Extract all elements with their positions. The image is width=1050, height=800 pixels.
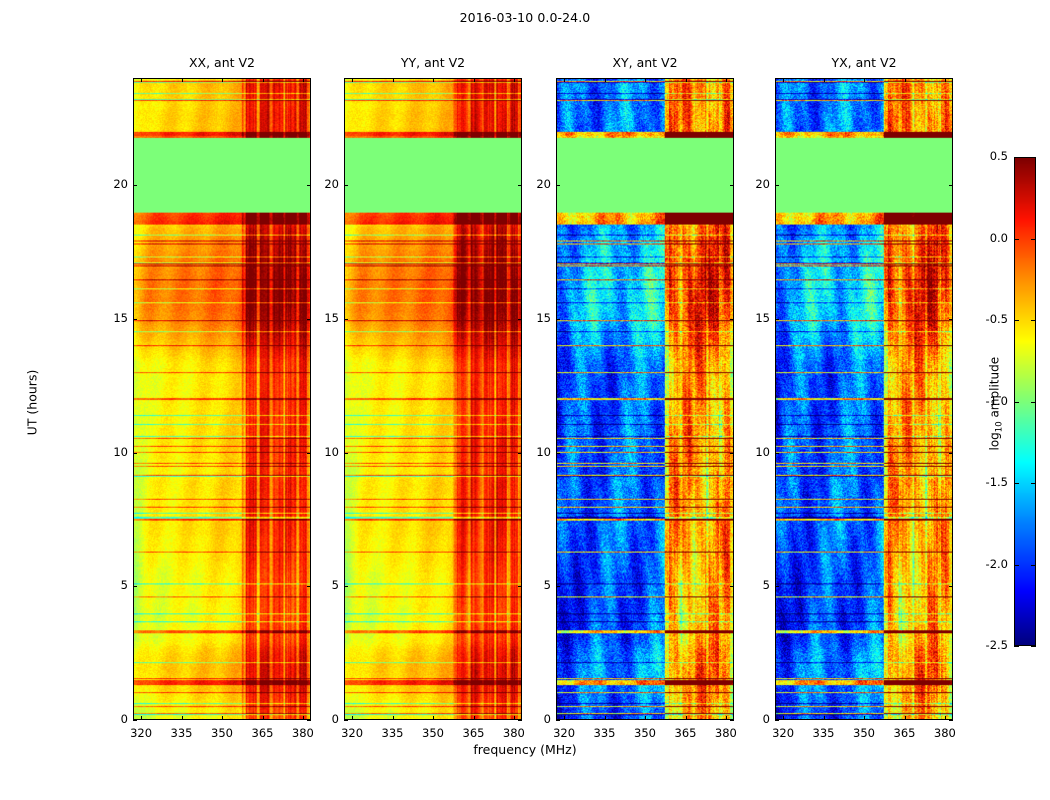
x-tickmark-top xyxy=(433,78,434,82)
y-tick-label-xx-4: 20 xyxy=(94,177,128,191)
y-tick-label-yy-2: 10 xyxy=(305,445,339,459)
colorbar-label-main: log xyxy=(987,432,1001,450)
x-tickmark xyxy=(141,716,142,720)
x-tick-label-xx-1: 335 xyxy=(162,726,202,740)
x-tick-label-yx-4: 380 xyxy=(925,726,965,740)
colorbar-tickmark xyxy=(1014,239,1019,240)
colorbar-tickmark-right xyxy=(1031,646,1036,647)
y-tick-label-yy-1: 5 xyxy=(305,578,339,592)
y-tick-label-yx-2: 10 xyxy=(736,445,770,459)
panel-title-yx: YX, ant V2 xyxy=(775,55,953,73)
colorbar-tickmark xyxy=(1014,157,1019,158)
panel-title-yy: YY, ant V2 xyxy=(344,55,522,73)
colorbar-tickmark xyxy=(1014,565,1019,566)
x-tickmark-top xyxy=(824,78,825,82)
x-tick-label-yy-3: 365 xyxy=(454,726,494,740)
x-tickmark-top xyxy=(783,78,784,82)
colorbar-tickmark-right xyxy=(1031,565,1036,566)
y-tickmark xyxy=(556,185,560,186)
x-tickmark-top xyxy=(222,78,223,82)
y-tickmark-right xyxy=(949,319,953,320)
y-tick-label-yx-0: 0 xyxy=(736,712,770,726)
y-tickmark xyxy=(133,185,137,186)
x-tickmark-top xyxy=(263,78,264,82)
y-tickmark-right xyxy=(949,185,953,186)
y-tick-label-yx-4: 20 xyxy=(736,177,770,191)
y-tickmark xyxy=(344,586,348,587)
y-tick-label-xy-4: 20 xyxy=(517,177,551,191)
y-tick-label-xy-3: 15 xyxy=(517,311,551,325)
x-tick-label-yy-1: 335 xyxy=(373,726,413,740)
colorbar-tick-label-5: -2.0 xyxy=(970,557,1008,571)
x-tickmark-top xyxy=(645,78,646,82)
y-tickmark xyxy=(556,586,560,587)
y-tickmark xyxy=(344,453,348,454)
y-tickmark xyxy=(775,453,779,454)
x-tick-label-xx-3: 365 xyxy=(243,726,283,740)
x-tick-label-yx-3: 365 xyxy=(885,726,925,740)
x-tickmark-top xyxy=(141,78,142,82)
x-tickmark xyxy=(645,716,646,720)
y-tickmark-right xyxy=(730,586,734,587)
colorbar-tick-label-0: 0.5 xyxy=(970,149,1008,163)
y-tickmark xyxy=(556,453,560,454)
x-tickmark-top xyxy=(945,78,946,82)
y-tick-label-xx-0: 0 xyxy=(94,712,128,726)
y-tickmark-right xyxy=(730,319,734,320)
x-tickmark xyxy=(474,716,475,720)
x-tick-label-xx-4: 380 xyxy=(283,726,323,740)
x-tick-label-yy-4: 380 xyxy=(494,726,534,740)
x-tick-label-xy-4: 380 xyxy=(706,726,746,740)
x-tickmark xyxy=(514,716,515,720)
colorbar-tickmark-right xyxy=(1031,239,1036,240)
panel-title-xx: XX, ant V2 xyxy=(133,55,311,73)
x-tickmark-top xyxy=(564,78,565,82)
y-tickmark-right xyxy=(730,185,734,186)
x-tick-label-xy-2: 350 xyxy=(625,726,665,740)
y-tickmark-right xyxy=(949,586,953,587)
y-tickmark-right xyxy=(730,453,734,454)
x-tickmark xyxy=(564,716,565,720)
x-tick-label-yy-0: 320 xyxy=(332,726,372,740)
x-tickmark xyxy=(222,716,223,720)
y-tickmark xyxy=(344,319,348,320)
x-tickmark xyxy=(433,716,434,720)
y-tickmark xyxy=(133,720,137,721)
heatmap-panel-yx[interactable] xyxy=(775,78,953,720)
y-tickmark-right xyxy=(949,720,953,721)
x-tickmark xyxy=(605,716,606,720)
y-tickmark xyxy=(556,319,560,320)
colorbar-tickmark xyxy=(1014,402,1019,403)
x-tick-label-yx-0: 320 xyxy=(763,726,803,740)
x-tickmark-top xyxy=(514,78,515,82)
y-tickmark-right xyxy=(949,453,953,454)
y-tickmark xyxy=(344,185,348,186)
heatmap-image-xy xyxy=(557,79,733,719)
colorbar-label-sub: 10 xyxy=(995,421,1005,432)
figure-canvas: 2016-03-10 0.0-24.0 XX, ant V2 YY, ant V… xyxy=(0,0,1050,800)
y-tickmark-right xyxy=(730,720,734,721)
y-axis-label: UT (hours) xyxy=(25,343,40,463)
x-tickmark xyxy=(686,716,687,720)
x-tickmark xyxy=(263,716,264,720)
x-tick-label-yx-2: 350 xyxy=(844,726,884,740)
y-tick-label-yx-3: 15 xyxy=(736,311,770,325)
colorbar-tick-label-1: 0.0 xyxy=(970,231,1008,245)
y-tickmark xyxy=(133,319,137,320)
heatmap-panel-xx[interactable] xyxy=(133,78,311,720)
colorbar-tickmark xyxy=(1014,483,1019,484)
x-tickmark-top xyxy=(864,78,865,82)
y-tick-label-yx-1: 5 xyxy=(736,578,770,592)
y-tick-label-xx-3: 15 xyxy=(94,311,128,325)
x-tickmark xyxy=(726,716,727,720)
x-tickmark xyxy=(303,716,304,720)
y-tick-label-yy-4: 20 xyxy=(305,177,339,191)
y-tickmark xyxy=(775,720,779,721)
y-tickmark xyxy=(775,586,779,587)
y-tick-label-xy-1: 5 xyxy=(517,578,551,592)
figure-title: 2016-03-10 0.0-24.0 xyxy=(0,10,1050,25)
x-tick-label-yy-2: 350 xyxy=(413,726,453,740)
heatmap-image-yx xyxy=(776,79,952,719)
x-tickmark-top xyxy=(303,78,304,82)
colorbar-tickmark-right xyxy=(1031,483,1036,484)
x-tickmark-top xyxy=(905,78,906,82)
y-tickmark xyxy=(344,720,348,721)
x-tickmark xyxy=(352,716,353,720)
panel-title-xy: XY, ant V2 xyxy=(556,55,734,73)
x-tickmark xyxy=(393,716,394,720)
colorbar-tickmark-right xyxy=(1031,402,1036,403)
colorbar-tickmark xyxy=(1014,646,1019,647)
x-tick-label-xx-2: 350 xyxy=(202,726,242,740)
colorbar-tickmark xyxy=(1014,320,1019,321)
x-tickmark xyxy=(905,716,906,720)
y-tick-label-yy-0: 0 xyxy=(305,712,339,726)
heatmap-panel-yy[interactable] xyxy=(344,78,522,720)
heatmap-image-xx xyxy=(134,79,310,719)
x-tick-label-xy-3: 365 xyxy=(666,726,706,740)
y-tick-label-xx-2: 10 xyxy=(94,445,128,459)
x-axis-label: frequency (MHz) xyxy=(0,742,1050,757)
heatmap-panel-xy[interactable] xyxy=(556,78,734,720)
colorbar-tick-label-6: -2.5 xyxy=(970,638,1008,652)
y-tick-label-xy-2: 10 xyxy=(517,445,551,459)
y-tickmark xyxy=(556,720,560,721)
y-tickmark xyxy=(133,586,137,587)
x-tick-label-xy-0: 320 xyxy=(544,726,584,740)
x-tickmark xyxy=(182,716,183,720)
x-tickmark-top xyxy=(726,78,727,82)
x-tick-label-yx-1: 335 xyxy=(804,726,844,740)
y-tick-label-yy-3: 15 xyxy=(305,311,339,325)
y-tickmark xyxy=(133,453,137,454)
x-tick-label-xx-0: 320 xyxy=(121,726,161,740)
y-tick-label-xy-0: 0 xyxy=(517,712,551,726)
x-tickmark-top xyxy=(605,78,606,82)
colorbar-label-rest: amplitude xyxy=(987,357,1001,421)
colorbar-tickmark-right xyxy=(1031,320,1036,321)
colorbar-tickmark-right xyxy=(1031,157,1036,158)
x-tickmark xyxy=(945,716,946,720)
x-tickmark-top xyxy=(474,78,475,82)
x-tick-label-xy-1: 335 xyxy=(585,726,625,740)
x-tickmark-top xyxy=(686,78,687,82)
y-tick-label-xx-1: 5 xyxy=(94,578,128,592)
x-tickmark-top xyxy=(182,78,183,82)
x-tickmark-top xyxy=(352,78,353,82)
x-tickmark xyxy=(864,716,865,720)
x-tickmark xyxy=(824,716,825,720)
x-tickmark-top xyxy=(393,78,394,82)
x-tickmark xyxy=(783,716,784,720)
y-tickmark xyxy=(775,319,779,320)
heatmap-image-yy xyxy=(345,79,521,719)
colorbar-label: log10 amplitude xyxy=(987,324,1004,484)
y-tickmark xyxy=(775,185,779,186)
